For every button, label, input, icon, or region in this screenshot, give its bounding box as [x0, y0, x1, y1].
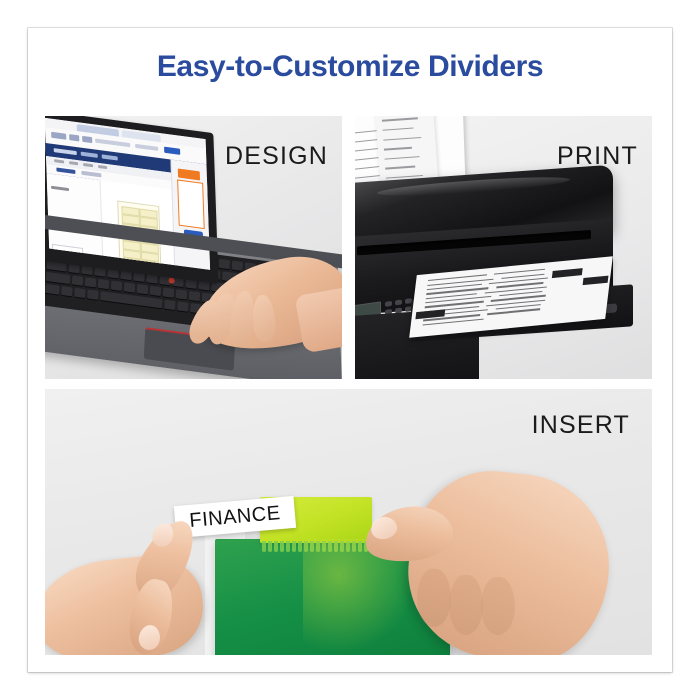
- panel-label-insert: INSERT: [532, 411, 630, 440]
- panel-insert: FINANCE INSERT: [45, 389, 652, 655]
- right-hand-icon: [365, 447, 615, 655]
- left-hand-icon: [45, 517, 235, 655]
- panel-label-design: DESIGN: [225, 142, 328, 171]
- panel-print: PRINT: [355, 116, 652, 379]
- panel-design: DESIGN: [45, 116, 342, 379]
- page-title: Easy-to-Customize Dividers: [28, 50, 672, 84]
- printer-output-slot: [357, 230, 591, 255]
- panel-label-print: PRINT: [557, 142, 638, 171]
- product-feature-poster: Easy-to-Customize Dividers: [28, 28, 672, 672]
- hand-icon: [171, 237, 342, 367]
